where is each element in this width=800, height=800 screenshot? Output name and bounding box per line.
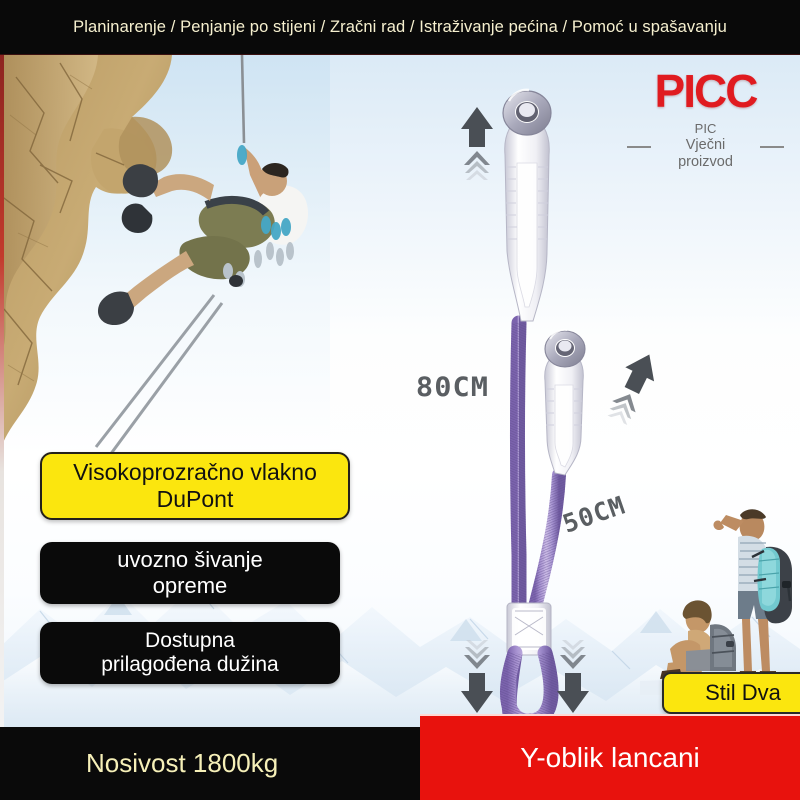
picc-subtitle: PIC Vječni proizvod [633,120,778,171]
rock-climber-photo [0,55,330,455]
feature-badge-custom-length: Dostupna prilagođena dužina [40,622,340,684]
style-variant-badge: Stil Dva [662,672,800,714]
left-red-edge-strip [0,55,4,727]
feature-badge-custom-length-line-1: Dostupna [101,629,278,653]
measurement-label-80cm: 80CM [416,372,489,403]
product-name-label: Y-oblik lancani [520,742,700,774]
picc-sub-line-3: proizvod [633,154,778,171]
feature-badge-dupont: Visokoprozračno vlakno DuPont [40,452,350,520]
feature-badge-sewing-line-1: uvozno šivanje [117,547,263,573]
picc-sub-line-1: PIC [633,120,778,137]
picc-sub-line-2: Vječni [633,137,778,154]
capacity-label: Nosivost 1800kg [86,748,278,779]
style-variant-label: Stil Dva [705,680,781,706]
feature-badge-custom-length-line-2: prilagođena dužina [101,653,278,677]
feature-badge-dupont-line-1: Visokoprozračno vlakno [73,459,317,486]
lanyard-long-leg [518,323,520,611]
mid-termination [545,330,585,475]
arrow-up-right-mid-icon [606,345,662,427]
arrow-up-top-icon [452,103,502,183]
arrow-down-right-icon [548,637,598,717]
feature-badge-sewing: uvozno šivanje opreme [40,542,340,604]
top-termination [503,90,551,321]
feature-badge-sewing-line-2: opreme [117,573,263,599]
product-ad-image: Planinarenje / Penjanje po stijeni / Zra… [0,0,800,800]
product-name-bar: Y-oblik lancani [420,714,800,800]
top-category-banner: Planinarenje / Penjanje po stijeni / Zra… [0,0,800,55]
top-banner-text: Planinarenje / Penjanje po stijeni / Zra… [73,18,727,37]
picc-logo: PICC PIC Vječni proizvod [633,68,778,171]
lanyard-short-leg [535,475,559,607]
feature-badge-dupont-line-2: DuPont [73,486,317,513]
arrow-down-left-icon [452,637,502,717]
picc-wordmark: PICC [633,68,778,114]
